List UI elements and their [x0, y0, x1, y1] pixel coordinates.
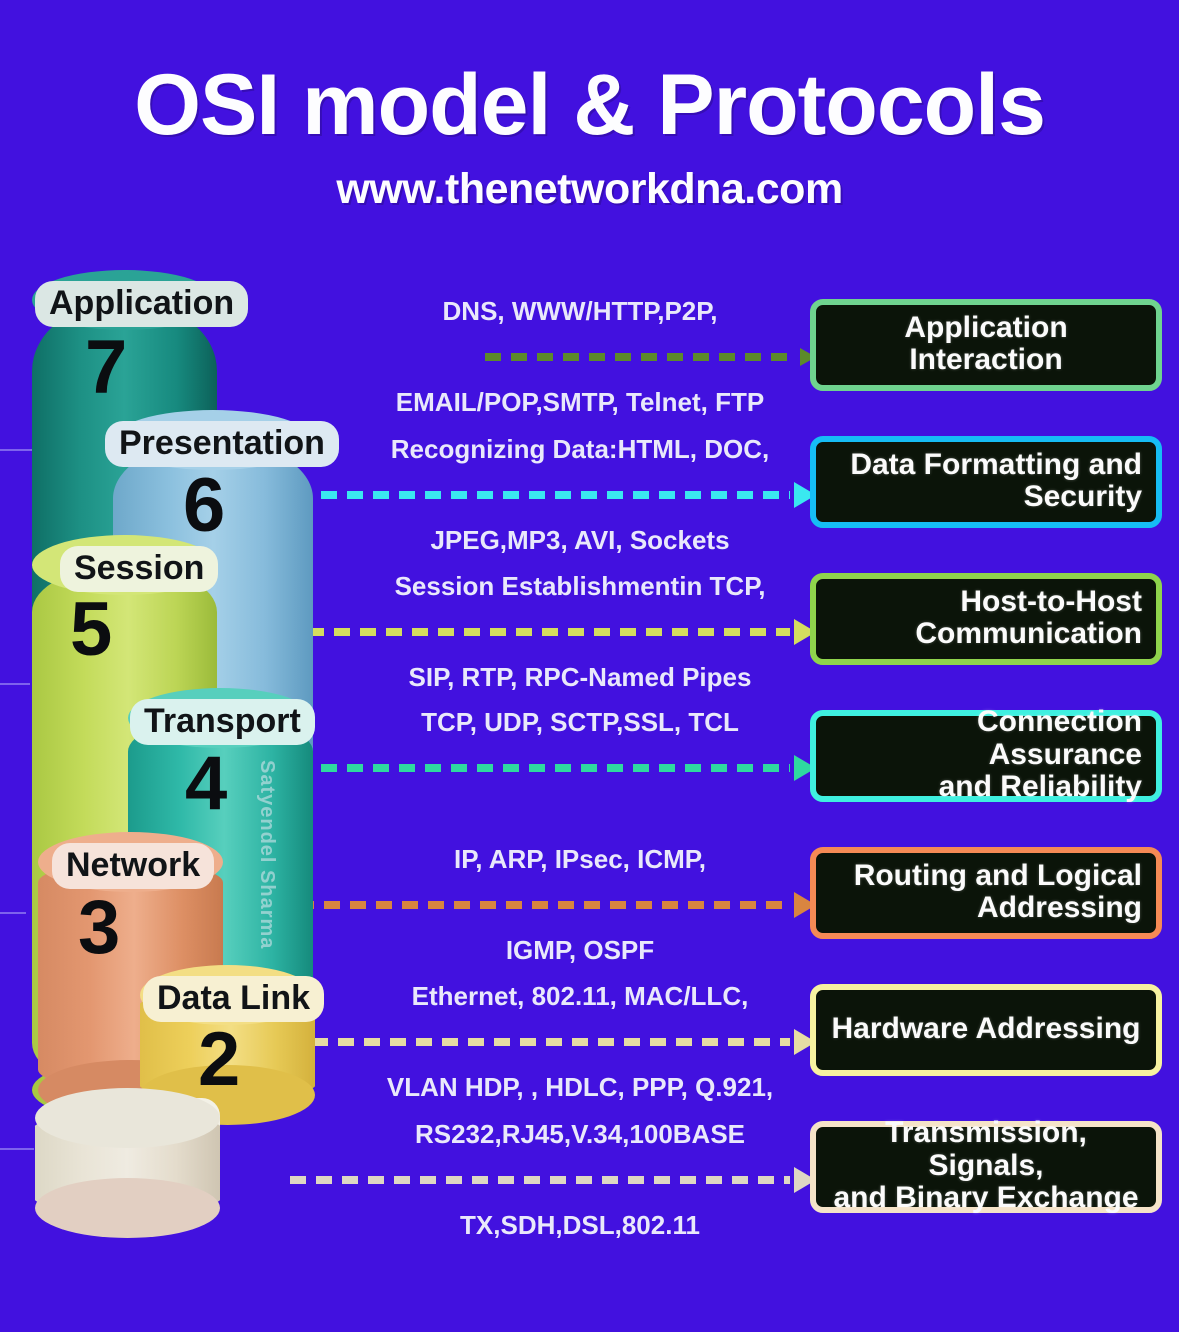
protocol-text-line2: IGMP, OSPF: [330, 936, 830, 965]
layer-number-4: 4: [185, 746, 227, 822]
protocol-text-line1: Ethernet, 802.11, MAC/LLC,: [330, 982, 830, 1011]
function-text: Application Interaction: [830, 312, 1142, 377]
protocol-text-line1: Session Establishmentin TCP,: [330, 572, 830, 601]
function-box-7[interactable]: Application Interaction: [810, 299, 1162, 391]
cylinder-cap: [35, 1088, 220, 1148]
function-text: Hardware Addressing: [830, 1013, 1142, 1045]
arrow-dashes: [230, 628, 790, 636]
function-text: Routing and Logical Addressing: [854, 860, 1142, 925]
layer-number-6: 6: [183, 468, 225, 544]
protocol-text-line1: DNS, WWW/HTTP,P2P,: [330, 297, 830, 326]
layer-label-network: Network: [52, 843, 214, 889]
function-box-1[interactable]: Transmission, Signals, and Binary Exchan…: [810, 1121, 1162, 1213]
layer-label-text: Session: [74, 549, 204, 587]
function-text: Transmission, Signals, and Binary Exchan…: [830, 1117, 1142, 1214]
flow-arrow-4: [295, 764, 816, 772]
cylinder-layer-1: [35, 1118, 220, 1208]
protocol-text-line2: TX,SDH,DSL,802.11: [330, 1211, 830, 1240]
cylinder-base: [35, 1178, 220, 1238]
layer-number-5: 5: [70, 592, 112, 668]
arrow-dashes: [485, 353, 791, 361]
protocol-text-line1: RS232,RJ45,V.34,100BASE: [330, 1120, 830, 1149]
flow-arrow-5: [230, 628, 816, 636]
layer-label-text: Data Link: [157, 979, 310, 1017]
function-box-2[interactable]: Hardware Addressing: [810, 984, 1162, 1076]
flow-arrow-1: [290, 1176, 816, 1184]
protocol-row-1: RS232,RJ45,V.34,100BASE TX,SDH,DSL,802.1…: [330, 1120, 830, 1240]
protocol-text-line2: JPEG,MP3, AVI, Sockets: [330, 526, 830, 555]
flow-arrow-2: [312, 1038, 816, 1046]
protocol-text-line1: TCP, UDP, SCTP,SSL, TCL: [330, 708, 830, 737]
layer-label-text: Network: [66, 846, 200, 884]
layer-label-datalink: Data Link: [143, 976, 324, 1022]
function-text: Host-to-Host Communication: [915, 586, 1142, 651]
layer-label-text: Transport: [144, 702, 301, 740]
function-box-4[interactable]: Connection Assurance and Reliability: [810, 710, 1162, 802]
protocol-text-line1: Recognizing Data:HTML, DOC,: [330, 435, 830, 464]
layer-number-3: 3: [78, 890, 120, 966]
arrow-dashes: [290, 1176, 790, 1184]
function-box-3[interactable]: Routing and Logical Addressing: [810, 847, 1162, 939]
protocol-text-line2: EMAIL/POP,SMTP, Telnet, FTP: [330, 388, 830, 417]
arrow-dashes: [295, 491, 790, 499]
function-text: Data Formatting and Security: [850, 449, 1142, 514]
function-text: Connection Assurance and Reliability: [830, 706, 1142, 803]
protocol-row-2: Ethernet, 802.11, MAC/LLC, VLAN HDP, , H…: [330, 982, 830, 1102]
layer-number-7: 7: [85, 330, 127, 406]
layer-label-text: Application: [49, 284, 234, 322]
protocol-text-line2: SIP, RTP, RPC-Named Pipes: [330, 663, 830, 692]
layer-label-application: Application: [35, 281, 248, 327]
arrow-dashes: [295, 764, 790, 772]
protocol-row-4: TCP, UDP, SCTP,SSL, TCL: [330, 708, 830, 828]
layer-label-text: Presentation: [119, 424, 325, 462]
arrow-dashes: [312, 1038, 790, 1046]
protocol-row-7: DNS, WWW/HTTP,P2P, EMAIL/POP,SMTP, Telne…: [330, 297, 830, 417]
protocol-row-6: Recognizing Data:HTML, DOC, JPEG,MP3, AV…: [330, 435, 830, 555]
protocol-row-5: Session Establishmentin TCP, SIP, RTP, R…: [330, 572, 830, 692]
layer-label-presentation: Presentation: [105, 421, 339, 467]
layer-number-2: 2: [198, 1022, 240, 1098]
protocol-row-3: IP, ARP, IPsec, ICMP, IGMP, OSPF: [330, 845, 830, 965]
flow-arrow-7: [485, 353, 816, 361]
function-box-5[interactable]: Host-to-Host Communication: [810, 573, 1162, 665]
function-box-6[interactable]: Data Formatting and Security: [810, 436, 1162, 528]
flow-arrow-6: [295, 491, 816, 499]
protocol-text-line2: VLAN HDP, , HDLC, PPP, Q.921,: [330, 1073, 830, 1102]
layer-label-transport: Transport: [130, 699, 315, 745]
layer-label-session: Session: [60, 546, 218, 592]
protocol-text-line1: IP, ARP, IPsec, ICMP,: [330, 845, 830, 874]
